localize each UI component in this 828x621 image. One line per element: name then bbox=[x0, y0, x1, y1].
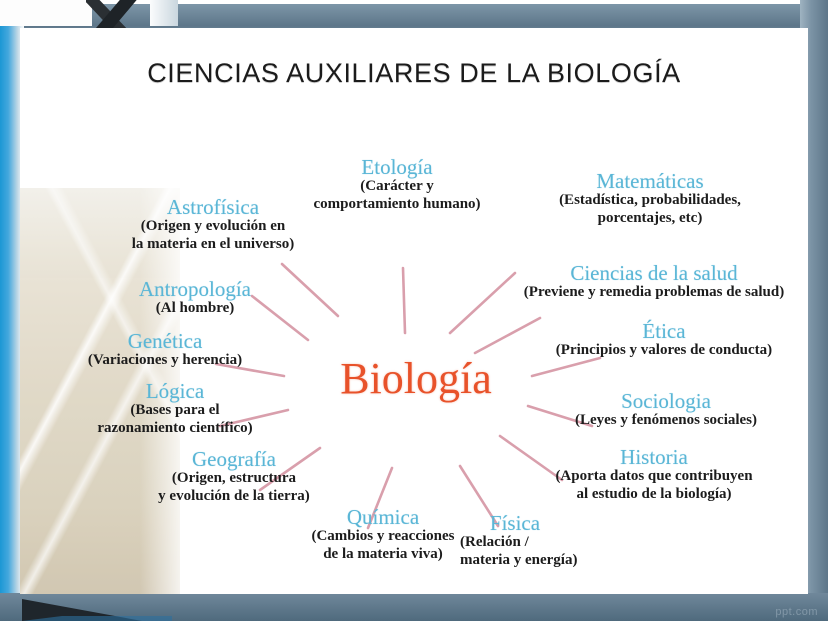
node-desc-line: (Al hombre) bbox=[80, 300, 310, 318]
node-desc-line: (Origen, estructura bbox=[124, 470, 344, 488]
node-desc-line: (Bases para el bbox=[50, 402, 300, 420]
node-desc-line: y evolución de la tierra) bbox=[124, 488, 344, 506]
node-antropologia[interactable]: Antropología (Al hombre) bbox=[80, 278, 310, 318]
node-sociologia[interactable]: Sociologia (Leyes y fenómenos sociales) bbox=[532, 390, 800, 430]
node-term: Sociologia bbox=[532, 390, 800, 412]
node-term: Lógica bbox=[50, 380, 300, 402]
node-desc-line: razonamiento científico) bbox=[50, 420, 300, 438]
node-term: Historia bbox=[520, 446, 788, 468]
node-desc-line: de la materia viva) bbox=[278, 546, 488, 564]
node-term: Matemáticas bbox=[492, 170, 808, 192]
node-desc-line: la materia en el universo) bbox=[98, 236, 328, 254]
node-term: Geografía bbox=[124, 448, 344, 470]
node-term: Ética bbox=[520, 320, 808, 342]
node-matematicas[interactable]: Matemáticas (Estadística, probabilidades… bbox=[492, 170, 808, 227]
node-historia[interactable]: Historia (Aporta datos que contribuyen a… bbox=[520, 446, 788, 503]
watermark-label: ppt.com bbox=[775, 606, 818, 618]
node-genetica[interactable]: Genética (Variaciones y herencia) bbox=[40, 330, 290, 370]
node-desc-line: (Origen y evolución en bbox=[98, 218, 328, 236]
node-desc-line: (Previene y remedia problemas de salud) bbox=[500, 284, 808, 302]
node-geografia[interactable]: Geografía (Origen, estructura y evolució… bbox=[124, 448, 344, 505]
node-term: Antropología bbox=[80, 278, 310, 300]
node-desc-line: (Principios y valores de conducta) bbox=[520, 342, 808, 360]
center-node-biologia: Biología bbox=[306, 353, 526, 404]
node-logica[interactable]: Lógica (Bases para el razonamiento cient… bbox=[50, 380, 300, 437]
node-term: Genética bbox=[40, 330, 290, 352]
node-desc-line: porcentajes, etc) bbox=[492, 210, 808, 228]
node-desc-line: (Cambios y reacciones bbox=[278, 528, 488, 546]
slide-canvas: CIENCIAS AUXILIARES DE LA BIOLOGÍA bbox=[20, 28, 808, 594]
node-desc-line: (Leyes y fenómenos sociales) bbox=[532, 412, 800, 430]
chrome-bottom-wedge-icon bbox=[22, 595, 202, 621]
node-etica[interactable]: Ética (Principios y valores de conducta) bbox=[520, 320, 808, 360]
radial-diagram: Biología Etología (Carácter y comportami… bbox=[20, 28, 808, 594]
node-desc-line: (Carácter y bbox=[282, 178, 512, 196]
node-term: Etología bbox=[282, 156, 512, 178]
node-ciencias-de-la-salud[interactable]: Ciencias de la salud (Previene y remedia… bbox=[500, 262, 808, 302]
node-desc-line: al estudio de la biología) bbox=[520, 486, 788, 504]
node-desc-line: (Variaciones y herencia) bbox=[40, 352, 290, 370]
node-astrofisica[interactable]: Astrofísica (Origen y evolución en la ma… bbox=[98, 196, 328, 253]
node-desc-line: (Estadística, probabilidades, bbox=[492, 192, 808, 210]
node-quimica[interactable]: Química (Cambios y reacciones de la mate… bbox=[278, 506, 488, 563]
chrome-top-white-left bbox=[0, 0, 92, 26]
node-desc-line: (Aporta datos que contribuyen bbox=[520, 468, 788, 486]
node-term: Ciencias de la salud bbox=[500, 262, 808, 284]
node-term: Química bbox=[278, 506, 488, 528]
slide-viewer: CIENCIAS AUXILIARES DE LA BIOLOGÍA bbox=[0, 0, 828, 621]
node-term: Astrofísica bbox=[98, 196, 328, 218]
